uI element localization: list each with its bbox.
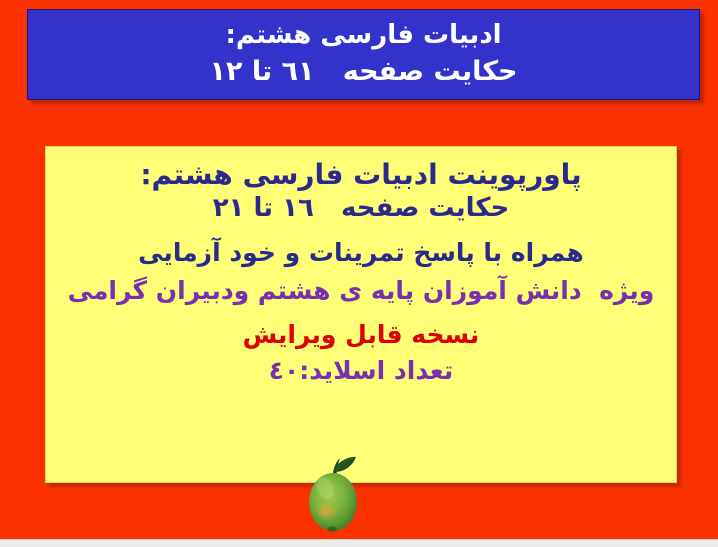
content-line-6: تعداد اسلاید:٤٠ <box>60 357 662 385</box>
content-line-2: حکایت صفحه ١٦ تا ٢١ <box>60 194 662 223</box>
apple-base <box>327 526 337 531</box>
apple-image <box>300 455 374 535</box>
title-line-2: حکایت صفحه ١٦ تا ٢١ <box>210 54 518 91</box>
presentation-slide: ادبیات فارسی هشتم: حکایت صفحه ١٦ تا ٢١ پ… <box>0 0 718 547</box>
content-line-5: نسخه قابل ویرایش <box>60 321 662 349</box>
content-line-1: پاورپوینت ادبیات فارسی هشتم: <box>60 159 662 190</box>
title-line-1: ادبیات فارسی هشتم: <box>225 18 501 53</box>
apple-blush <box>314 501 338 521</box>
slide-content-box: پاورپوینت ادبیات فارسی هشتم: حکایت صفحه … <box>45 146 677 483</box>
content-line-4: ویژه دانش آموزان پایه ی هشتم ودبیران گرا… <box>60 277 662 305</box>
slide-title-banner: ادبیات فارسی هشتم: حکایت صفحه ١٦ تا ٢١ <box>27 9 700 100</box>
window-bottom-strip <box>0 539 718 547</box>
content-line-3: همراه با پاسخ تمرینات و خود آزمایی <box>60 239 662 267</box>
apple-body <box>309 473 357 531</box>
green-apple-icon <box>300 455 374 535</box>
